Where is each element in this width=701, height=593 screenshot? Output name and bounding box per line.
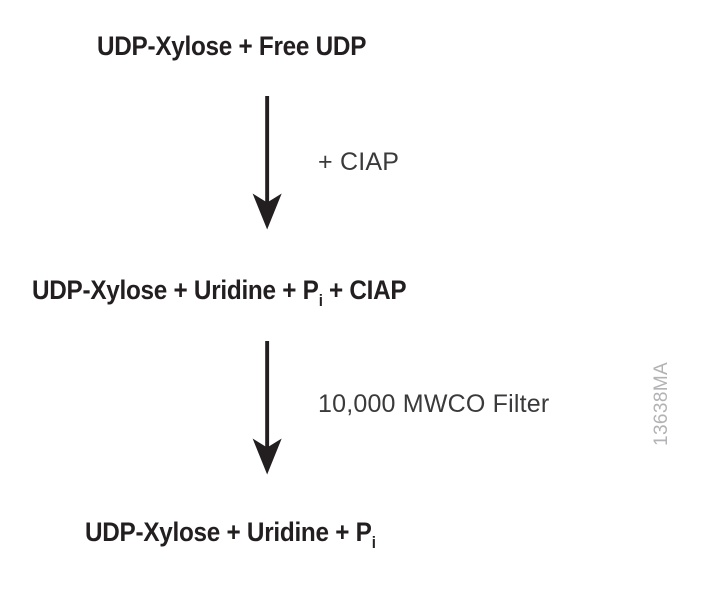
species-1-text: UDP-Xylose + Free UDP	[97, 31, 366, 61]
species-2-tail: + CIAP	[323, 275, 407, 305]
species-2-text: UDP-Xylose + Uridine + P	[32, 275, 319, 305]
transition-label-1: + CIAP	[318, 150, 399, 175]
reaction-species-row-2: UDP-Xylose + Uridine + Pi + CIAP	[32, 277, 406, 304]
down-arrow-2	[250, 341, 284, 475]
species-3-text: UDP-Xylose + Uridine + P	[85, 517, 372, 547]
reaction-species-row-3: UDP-Xylose + Uridine + Pi	[85, 519, 376, 546]
transition-label-2: 10,000 MWCO Filter	[318, 392, 549, 417]
down-arrow-2-glyph	[250, 341, 284, 475]
catalog-code-watermark: 13638MA	[652, 362, 671, 446]
down-arrow-1-glyph	[250, 96, 284, 230]
species-3-subscript: i	[372, 533, 376, 552]
species-2-subscript: i	[319, 291, 323, 310]
diagram-canvas: UDP-Xylose + Free UDP + CIAP UDP-Xylose …	[0, 0, 701, 593]
reaction-species-row-1: UDP-Xylose + Free UDP	[97, 33, 366, 60]
down-arrow-1	[250, 96, 284, 230]
